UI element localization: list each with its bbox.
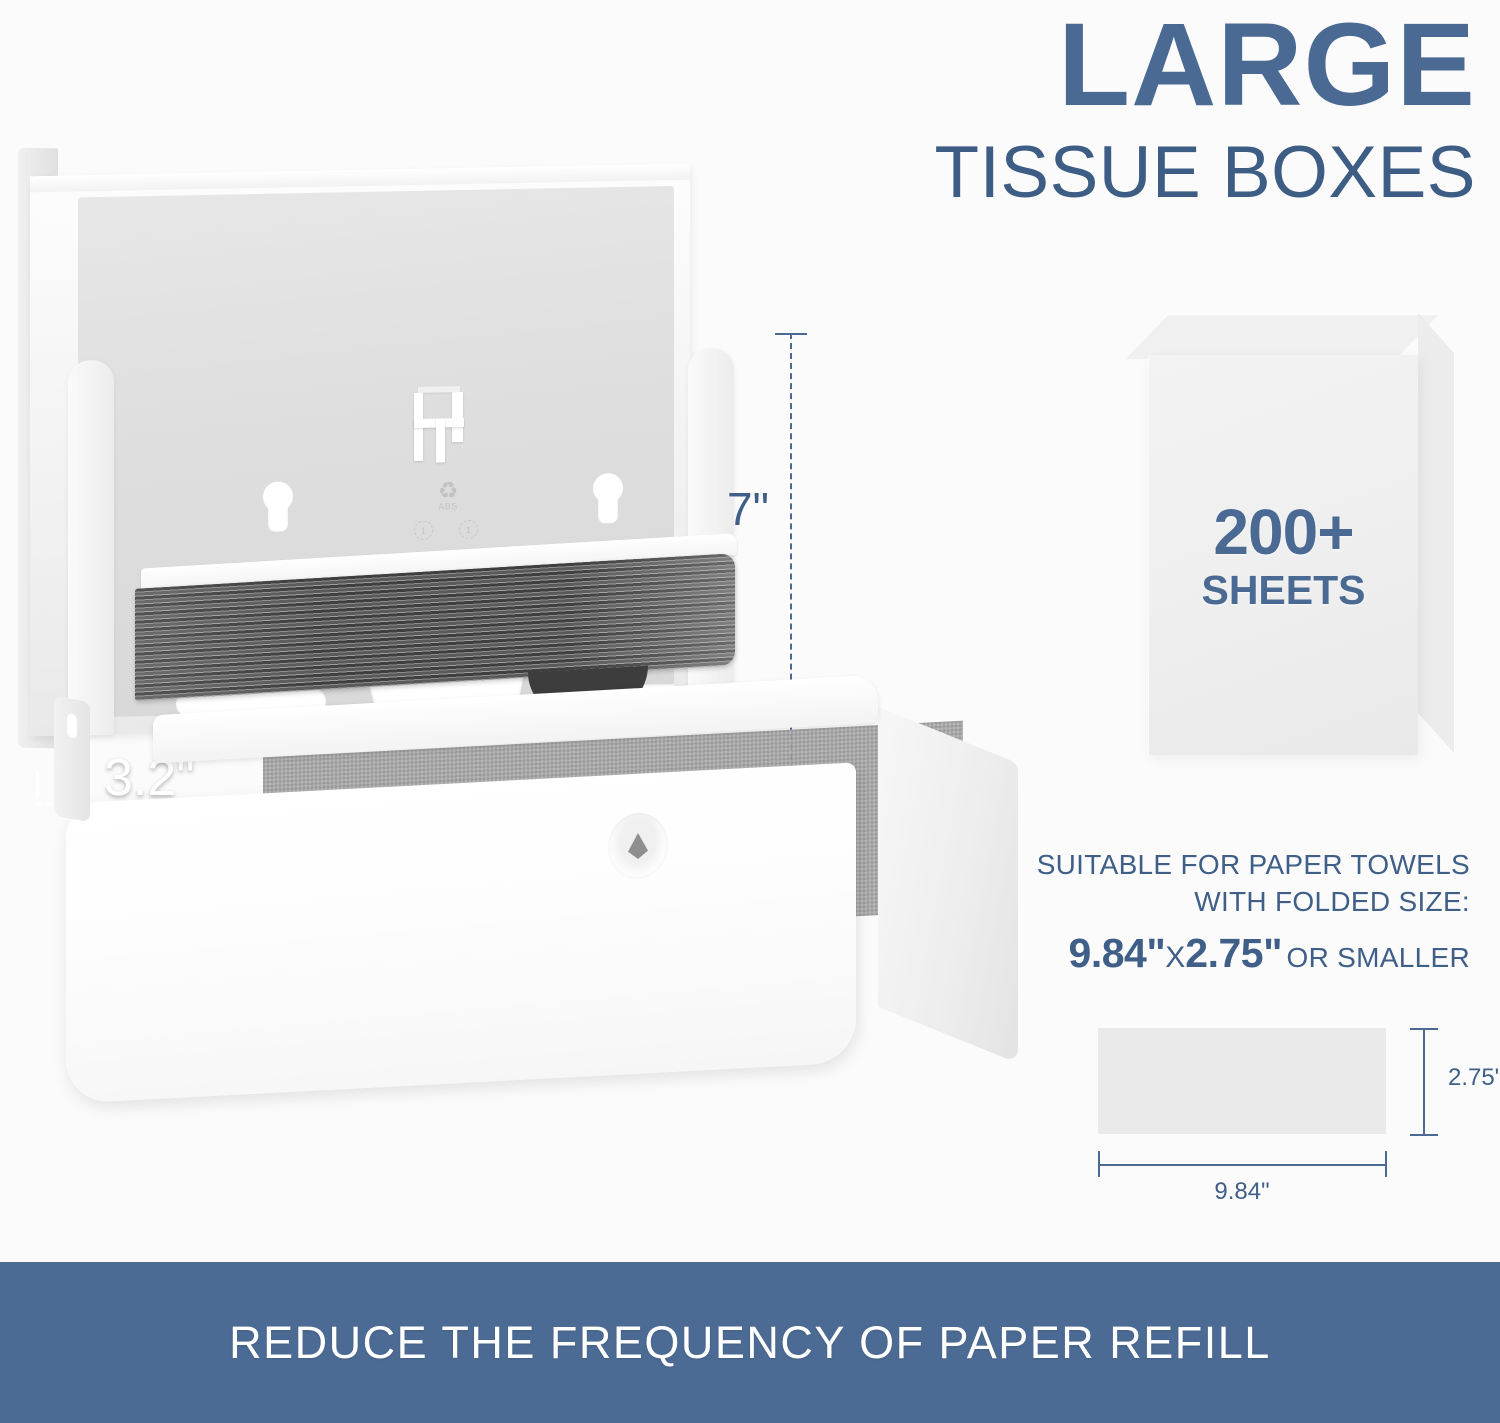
towel-height-label: 2.75" [1448,1064,1500,1092]
box-front-face: 200+ SHEETS [1148,355,1418,755]
mold-dot-1-icon: 1 [414,521,433,540]
keyhole-mount-left [268,485,288,531]
towel-height-cap-bottom [1410,1134,1438,1136]
suitability-line-2: WITH FOLDED SIZE: [1000,883,1470,920]
product-photo: ♻ ABS 1 1 [0,150,1030,1150]
sheet-count: 200+ [1213,500,1353,564]
headline-primary: LARGE [935,2,1477,129]
tray-right-sidewall [878,707,1018,1064]
suitability-line-1: SUITABLE FOR PAPER TOWELS [1000,846,1470,883]
dim-height-label: 7" [727,482,769,536]
latch-tab [398,392,474,463]
footer-tagline: REDUCE THE FREQUENCY OF PAPER REFILL [229,1317,1271,1369]
suitability-text: SUITABLE FOR PAPER TOWELS WITH FOLDED SI… [1000,846,1470,977]
towel-width-line [1098,1164,1386,1166]
towel-size-diagram: 2.75" 9.84" [1090,1020,1490,1220]
folded-depth: 2.75" [1185,930,1282,976]
towel-shape [1098,1028,1386,1134]
tray-front-cover [66,762,856,1103]
size-qualifier: OR SMALLER [1287,942,1471,973]
material-label: ABS [426,501,470,512]
hinge-left [54,696,90,822]
recycle-symbol: ♻ ABS [426,480,470,512]
dimension-separator: X [1165,941,1185,974]
towel-width-label: 9.84" [1098,1178,1386,1206]
latch-bar-d [436,418,445,462]
suitability-dimensions: 9.84"X2.75" OR SMALLER [1000,930,1470,977]
footer-banner: REDUCE THE FREQUENCY OF PAPER REFILL [0,1262,1500,1423]
box-side-face [1418,313,1454,753]
dispenser-tray [48,695,978,1115]
towel-height-line [1423,1028,1425,1134]
folded-width: 9.84" [1069,930,1166,976]
sheet-count-unit: SHEETS [1201,570,1365,611]
dim-32in-cap-left [36,772,39,798]
keyhole-mount-right [598,477,618,523]
towel-width-cap-right [1385,1151,1387,1177]
box-top-face [1126,313,1440,359]
product-marketing-image: LARGE TISSUE BOXES ♻ ABS [0,0,1500,1423]
sheets-capacity-box: 200+ SHEETS [1148,355,1418,755]
backplate-left-wing [68,360,114,736]
recycle-triangle-icon: ♻ [426,480,470,502]
mold-marks: 1 1 [414,520,478,540]
mold-dot-2-icon: 1 [459,520,478,539]
